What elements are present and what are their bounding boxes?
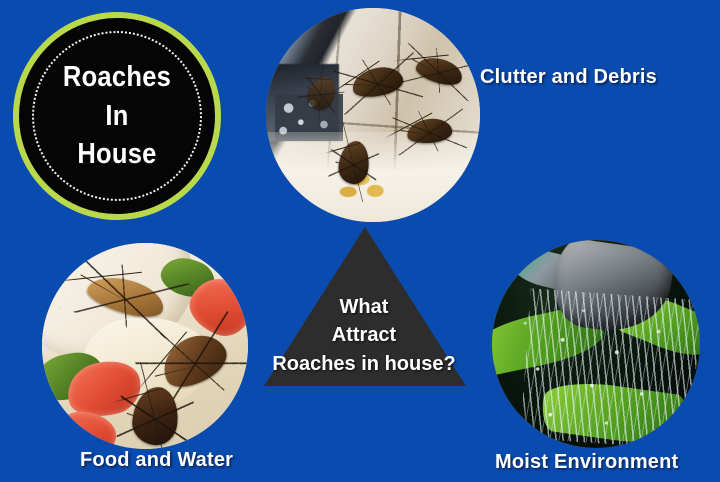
caption-moist-environment: Moist Environment <box>495 451 678 474</box>
moist-environment-photo <box>492 240 700 448</box>
logo-title: Roaches In House <box>19 58 215 174</box>
infographic-canvas: Roaches In House <box>0 0 720 482</box>
water-droplets <box>492 240 700 448</box>
logo-title-line-2: In <box>31 97 203 136</box>
caption-food-and-water: Food and Water <box>80 449 233 472</box>
food-and-water-photo <box>42 243 248 449</box>
clutter-and-debris-photo <box>266 8 480 222</box>
logo-badge: Roaches In House <box>13 12 221 220</box>
caption-clutter-and-debris: Clutter and Debris <box>480 66 657 89</box>
logo-title-line-1: Roaches <box>31 58 203 97</box>
center-triangle <box>264 227 466 386</box>
logo-title-line-3: House <box>31 135 203 174</box>
